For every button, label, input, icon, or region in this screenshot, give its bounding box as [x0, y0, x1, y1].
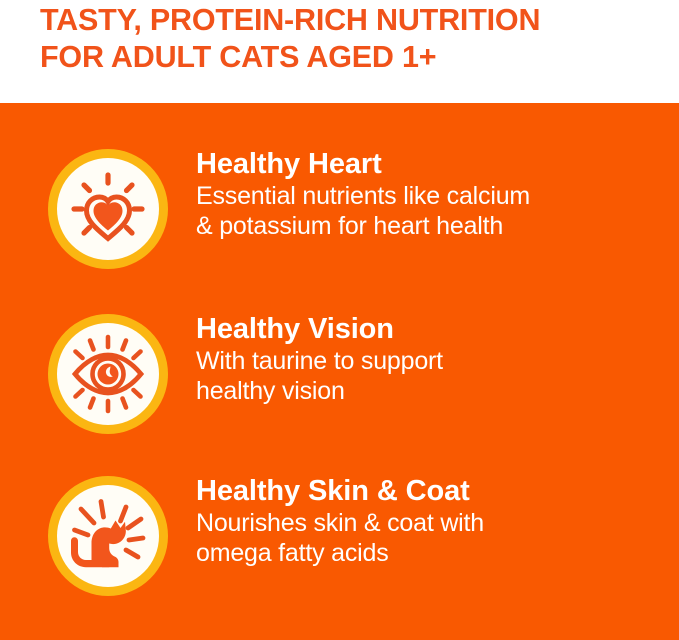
feature-description: With taurine to support healthy vision [196, 346, 443, 406]
feature-title: Healthy Skin & Coat [196, 474, 484, 508]
radiant-heart-icon [46, 147, 170, 271]
feature-description: Nourishes skin & coat with omega fatty a… [196, 508, 484, 568]
feature-title: Healthy Vision [196, 312, 443, 346]
feature-description-line-2: & potassium for heart health [196, 211, 530, 241]
header-title-line-2: FOR ADULT CATS AGED 1+ [40, 38, 679, 76]
features-panel: Healthy Heart Essential nutrients like c… [0, 103, 679, 640]
feature-text-healthy-heart: Healthy Heart Essential nutrients like c… [196, 147, 530, 241]
header-banner: TASTY, PROTEIN-RICH NUTRITION FOR ADULT … [0, 0, 679, 103]
radiant-cat-icon [46, 474, 170, 598]
feature-description: Essential nutrients like calcium & potas… [196, 181, 530, 241]
badge-healthy-skin-coat [46, 474, 170, 598]
feature-description-line-2: omega fatty acids [196, 538, 484, 568]
header-title-line-1: TASTY, PROTEIN-RICH NUTRITION [40, 1, 679, 39]
badge-healthy-heart [46, 147, 170, 271]
badge-healthy-vision [46, 312, 170, 436]
feature-description-line-2: healthy vision [196, 376, 443, 406]
nutrition-benefits-panel: TASTY, PROTEIN-RICH NUTRITION FOR ADULT … [0, 0, 679, 640]
feature-description-line-1: Nourishes skin & coat with [196, 508, 484, 538]
feature-description-line-1: Essential nutrients like calcium [196, 181, 530, 211]
feature-description-line-1: With taurine to support [196, 346, 443, 376]
feature-text-healthy-skin-coat: Healthy Skin & Coat Nourishes skin & coa… [196, 474, 484, 568]
feature-text-healthy-vision: Healthy Vision With taurine to support h… [196, 312, 443, 406]
feature-title: Healthy Heart [196, 147, 530, 181]
radiant-eye-icon [46, 312, 170, 436]
